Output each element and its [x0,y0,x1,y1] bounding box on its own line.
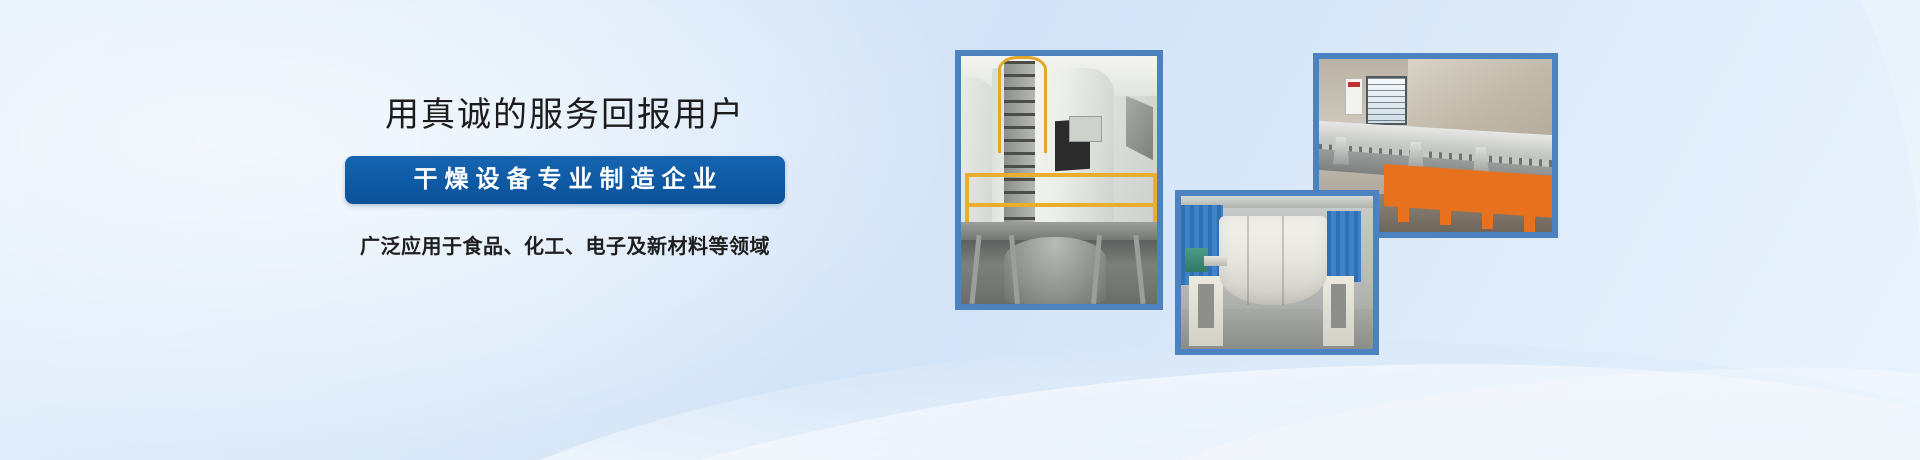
banner-headline: 用真诚的服务回报用户 [295,98,835,132]
spray-drying-tower-image [961,56,1157,304]
banner-subtitle: 广泛应用于食品、化工、电子及新材料等领域 [295,230,835,259]
banner-text-block: 用真诚的服务回报用户 干燥设备专业制造企业 广泛应用于食品、化工、电子及新材料等… [295,98,835,259]
spray-drying-tower-photo[interactable] [955,50,1163,310]
hero-banner: 用真诚的服务回报用户 干燥设备专业制造企业 广泛应用于食品、化工、电子及新材料等… [0,0,1920,460]
ribbon-mixer-image [1181,196,1373,349]
ribbon-mixer-photo[interactable] [1175,190,1379,355]
tagline-label: 干燥设备专业制造企业 [345,156,785,204]
tagline-pill-button[interactable]: 干燥设备专业制造企业 [345,156,785,204]
